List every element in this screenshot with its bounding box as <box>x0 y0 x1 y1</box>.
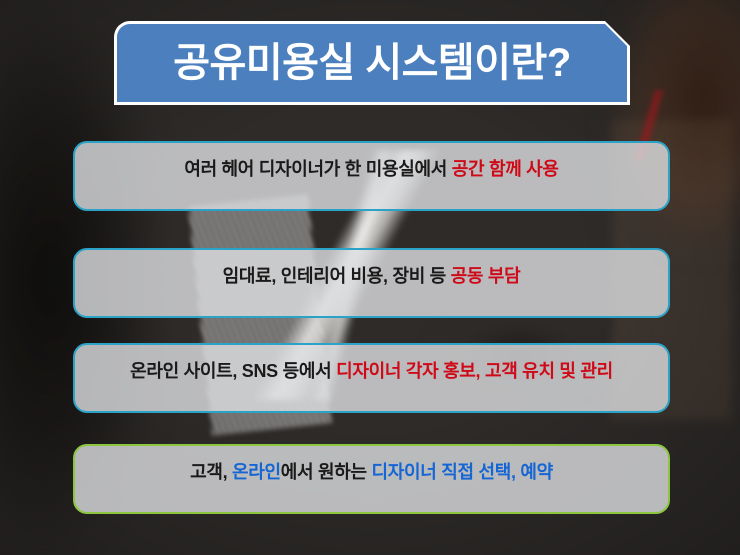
bullet-box-3: 온라인 사이트, SNS 등에서 디자이너 각자 홍보, 고객 유치 및 관리 <box>73 343 670 413</box>
bullet-2-segment-2: 공동 부담 <box>451 266 521 286</box>
bullet-4-segment-4: 디자이너 직접 선택, 예약 <box>372 462 553 482</box>
slide-canvas: 공유미용실 시스템이란? 여러 헤어 디자이너가 한 미용실에서 공간 함께 사… <box>0 0 740 555</box>
bullet-4-segment-1: 고객, <box>190 462 232 482</box>
title-banner-fill: 공유미용실 시스템이란? <box>117 24 627 102</box>
bullet-1-segment-2: 공간 함께 사용 <box>452 159 559 179</box>
bullet-text-2: 임대료, 인테리어 비용, 장비 등 공동 부담 <box>223 266 521 288</box>
page-title: 공유미용실 시스템이란? <box>173 43 571 83</box>
title-banner: 공유미용실 시스템이란? <box>114 21 630 105</box>
bullet-4-segment-2: 온라인 <box>232 462 281 482</box>
bullet-text-1: 여러 헤어 디자이너가 한 미용실에서 공간 함께 사용 <box>184 159 558 181</box>
bullet-text-4: 고객, 온라인에서 원하는 디자이너 직접 선택, 예약 <box>190 462 553 484</box>
bullet-box-1: 여러 헤어 디자이너가 한 미용실에서 공간 함께 사용 <box>73 141 670 211</box>
bullet-3-segment-1: 온라인 사이트, SNS 등에서 <box>130 361 336 381</box>
bullet-4-segment-3: 에서 원하는 <box>281 462 372 482</box>
bullet-1-segment-1: 여러 헤어 디자이너가 한 미용실에서 <box>184 159 451 179</box>
bullet-2-segment-1: 임대료, 인테리어 비용, 장비 등 <box>223 266 451 286</box>
bullet-box-4: 고객, 온라인에서 원하는 디자이너 직접 선택, 예약 <box>73 444 670 514</box>
bullet-box-2: 임대료, 인테리어 비용, 장비 등 공동 부담 <box>73 248 670 318</box>
bullet-text-3: 온라인 사이트, SNS 등에서 디자이너 각자 홍보, 고객 유치 및 관리 <box>130 361 613 383</box>
bullet-3-segment-2: 디자이너 각자 홍보, 고객 유치 및 관리 <box>336 361 613 381</box>
